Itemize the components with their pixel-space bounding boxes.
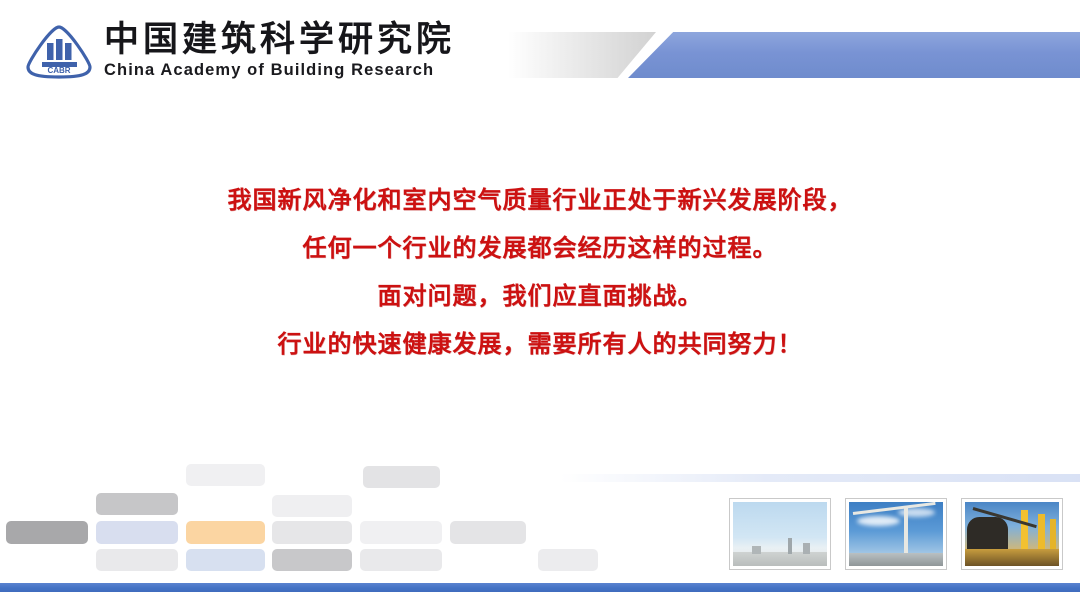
block-r2-c1 <box>96 493 178 515</box>
block-r3-c4 <box>360 521 442 544</box>
block-r3-c5 <box>450 521 526 544</box>
photo-skyline <box>729 498 831 570</box>
footer-gradient-strip <box>560 474 1080 482</box>
body-line-2: 任何一个行业的发展都会经历这样的过程。 <box>0 224 1080 272</box>
footer-accent-bar <box>0 583 1080 592</box>
org-name-chinese: 中国建筑科学研究院 <box>104 20 524 60</box>
photo-crane <box>845 498 947 570</box>
block-r2-c3 <box>272 495 352 517</box>
tower-crane-blue-sky <box>849 502 943 566</box>
presentation-slide: CABR 中国建筑科学研究院 China Academy of Building… <box>0 0 1080 604</box>
photo-site <box>961 498 1063 570</box>
organization-name: 中国建筑科学研究院 China Academy of Building Rese… <box>104 20 524 82</box>
block-r4-c4 <box>360 549 442 571</box>
cabr-shield-logo-icon: CABR <box>22 24 96 80</box>
block-r3-c1 <box>96 521 178 544</box>
header-banner-blue <box>628 32 1080 78</box>
block-r3-c2 <box>186 521 265 544</box>
svg-text:CABR: CABR <box>47 66 70 75</box>
block-r1-c2 <box>186 464 265 486</box>
body-line-4: 行业的快速健康发展，需要所有人的共同努力！ <box>0 320 1080 368</box>
block-r4-c6 <box>538 549 598 571</box>
block-r3-c3 <box>272 521 352 544</box>
header-banner-gray <box>508 32 656 78</box>
block-r1-c4 <box>363 466 440 488</box>
city-skyline-hazy <box>733 502 827 566</box>
construction-site-yellow-cranes <box>965 502 1059 566</box>
block-r4-c2 <box>186 549 265 571</box>
body-line-1: 我国新风净化和室内空气质量行业正处于新兴发展阶段， <box>0 176 1080 224</box>
body-line-3: 面对问题，我们应直面挑战。 <box>0 272 1080 320</box>
block-r4-c3 <box>272 549 352 571</box>
block-r4-c1 <box>96 549 178 571</box>
block-r3-c0 <box>6 521 88 544</box>
slide-header: CABR 中国建筑科学研究院 China Academy of Building… <box>0 0 1080 96</box>
slide-body-text: 我国新风净化和室内空气质量行业正处于新兴发展阶段， 任何一个行业的发展都会经历这… <box>0 176 1080 368</box>
org-name-english: China Academy of Building Research <box>104 60 524 80</box>
